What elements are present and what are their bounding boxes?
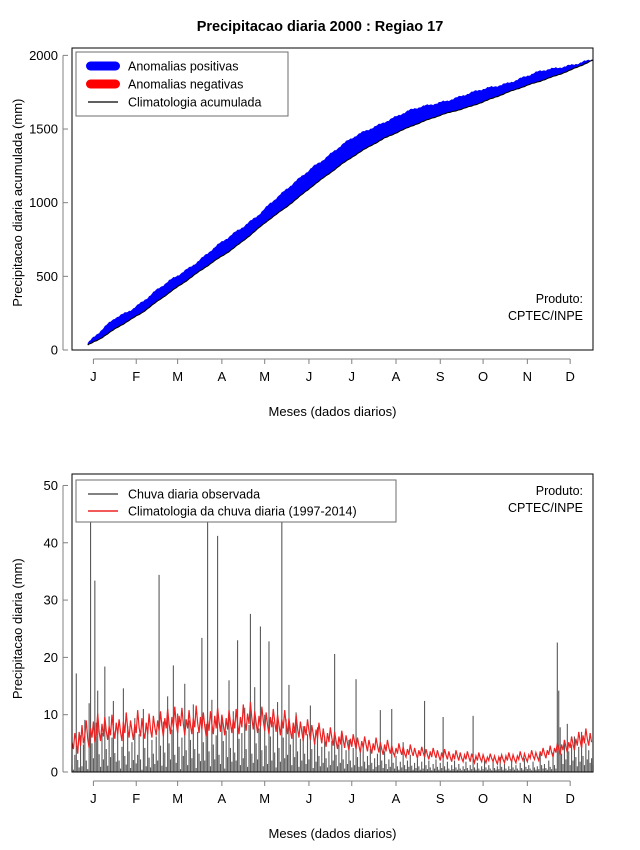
x-tick-label-accumulated: J: [349, 369, 356, 384]
x-tick-label-accumulated: A: [392, 369, 401, 384]
legend-swatch-accumulated: [86, 80, 120, 89]
y-tick-label-daily: 50: [44, 478, 58, 493]
x-tick-label-daily: F: [132, 791, 140, 806]
x-tick-label-accumulated: J: [90, 369, 97, 384]
figure-root: Precipitacao diaria 2000 : Regiao 170500…: [0, 0, 640, 850]
x-tick-label-daily: J: [306, 791, 313, 806]
producer-label-daily: Produto:: [536, 484, 583, 498]
precipitation-figure: Precipitacao diaria 2000 : Regiao 170500…: [0, 0, 640, 850]
x-tick-label-daily: S: [436, 791, 445, 806]
x-tick-label-daily: M: [172, 791, 183, 806]
y-tick-label-daily: 20: [44, 650, 58, 665]
y-axis-label-daily: Precipitacao diaria (mm): [10, 558, 25, 699]
x-tick-label-daily: D: [565, 791, 574, 806]
legend-label-daily: Chuva diaria observada: [128, 488, 260, 502]
x-tick-label-accumulated: N: [523, 369, 532, 384]
legend-swatch-accumulated: [86, 62, 120, 71]
panel-daily: 01020304050Precipitacao diaria (mm)JFMAM…: [10, 474, 593, 841]
x-axis-label-daily: Meses (dados diarios): [269, 826, 397, 841]
y-tick-label-accumulated: 500: [36, 269, 58, 284]
panel-accumulated: 0500100015002000Precipitacao diaria acum…: [10, 48, 593, 419]
y-axis-label-accumulated: Precipitacao diaria acumulada (mm): [10, 99, 25, 307]
x-tick-label-accumulated: F: [132, 369, 140, 384]
legend-label-daily: Climatologia da chuva diaria (1997-2014): [128, 505, 357, 519]
legend-label-accumulated: Anomalias negativas: [128, 78, 243, 92]
y-tick-label-accumulated: 0: [51, 343, 58, 358]
x-tick-label-accumulated: S: [436, 369, 445, 384]
x-tick-label-accumulated: J: [306, 369, 313, 384]
y-tick-label-accumulated: 1000: [29, 195, 58, 210]
page-title: Precipitacao diaria 2000 : Regiao 17: [197, 19, 444, 35]
legend-label-accumulated: Anomalias positivas: [128, 60, 238, 74]
legend-label-accumulated: Climatologia acumulada: [128, 96, 261, 110]
x-tick-label-daily: A: [392, 791, 401, 806]
x-tick-label-daily: O: [478, 791, 488, 806]
y-tick-label-daily: 40: [44, 535, 58, 550]
x-tick-label-accumulated: M: [172, 369, 183, 384]
y-tick-label-accumulated: 2000: [29, 48, 58, 63]
x-tick-label-daily: M: [259, 791, 270, 806]
x-axis-label-accumulated: Meses (dados diarios): [269, 404, 397, 419]
x-tick-label-accumulated: O: [478, 369, 488, 384]
producer-value-daily: CPTEC/INPE: [508, 501, 583, 515]
x-tick-label-daily: J: [90, 791, 97, 806]
x-tick-label-accumulated: A: [218, 369, 227, 384]
producer-value-accumulated: CPTEC/INPE: [508, 309, 583, 323]
x-tick-label-daily: J: [349, 791, 356, 806]
producer-label-accumulated: Produto:: [536, 292, 583, 306]
x-tick-label-accumulated: M: [259, 369, 270, 384]
y-tick-label-daily: 10: [44, 707, 58, 722]
y-tick-label-daily: 30: [44, 593, 58, 608]
x-tick-label-accumulated: D: [565, 369, 574, 384]
x-tick-label-daily: A: [218, 791, 227, 806]
y-tick-label-daily: 0: [51, 765, 58, 780]
y-tick-label-accumulated: 1500: [29, 122, 58, 137]
x-tick-label-daily: N: [523, 791, 532, 806]
